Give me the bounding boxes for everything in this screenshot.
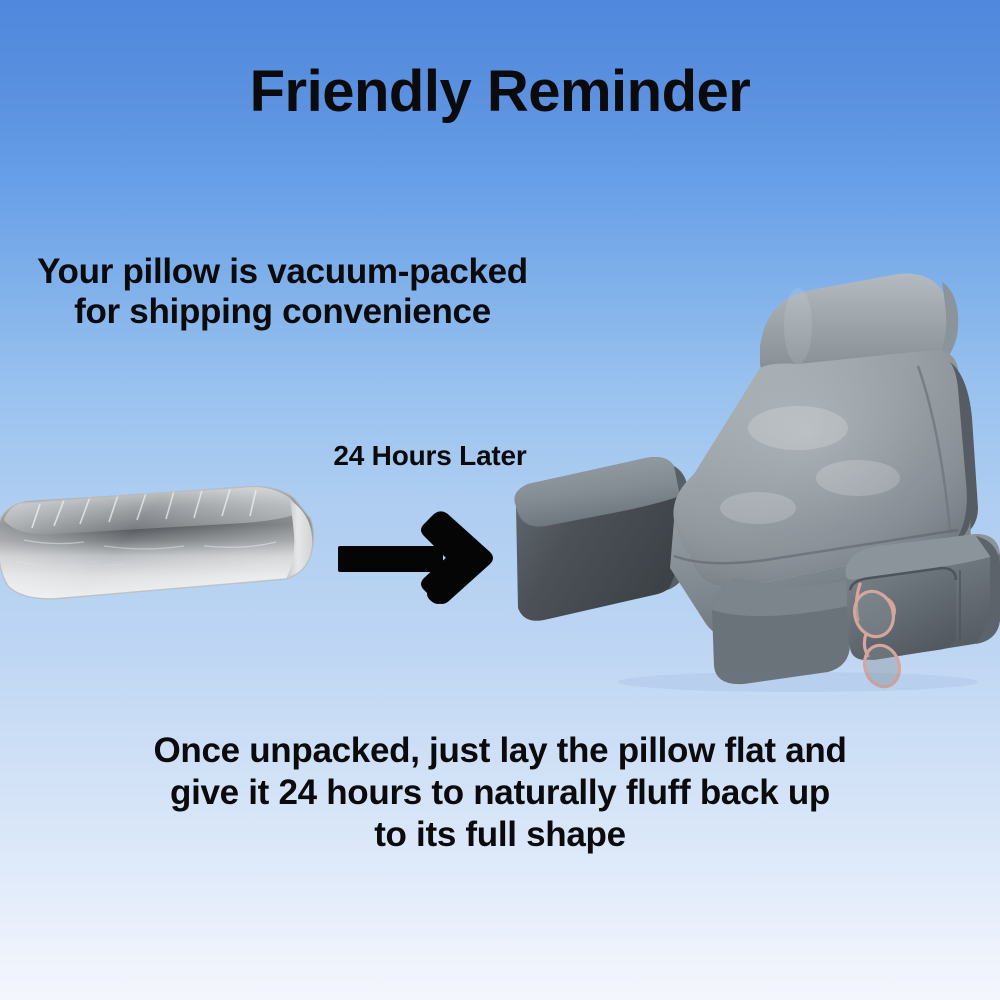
chair-shadow (618, 672, 978, 692)
instructions-caption: Once unpacked, just lay the pillow flat … (150, 730, 850, 856)
reading-pillow-image (498, 268, 1000, 688)
left-armrest (515, 457, 689, 621)
vacuum-packed-pillow-image (0, 476, 324, 606)
page-title: Friendly Reminder (0, 62, 1000, 123)
packed-pillow-svg (0, 476, 324, 606)
arrow-svg (338, 508, 498, 608)
packed-pillow-gloss (0, 486, 314, 598)
vacuum-packed-caption: Your pillow is vacuum-packed for shippin… (30, 252, 535, 331)
right-arrow-icon (338, 508, 498, 608)
reading-pillow-svg (498, 268, 1000, 688)
reminder-graphic: Friendly Reminder Your pillow is vacuum-… (0, 0, 1000, 1000)
seat-front (712, 578, 850, 684)
